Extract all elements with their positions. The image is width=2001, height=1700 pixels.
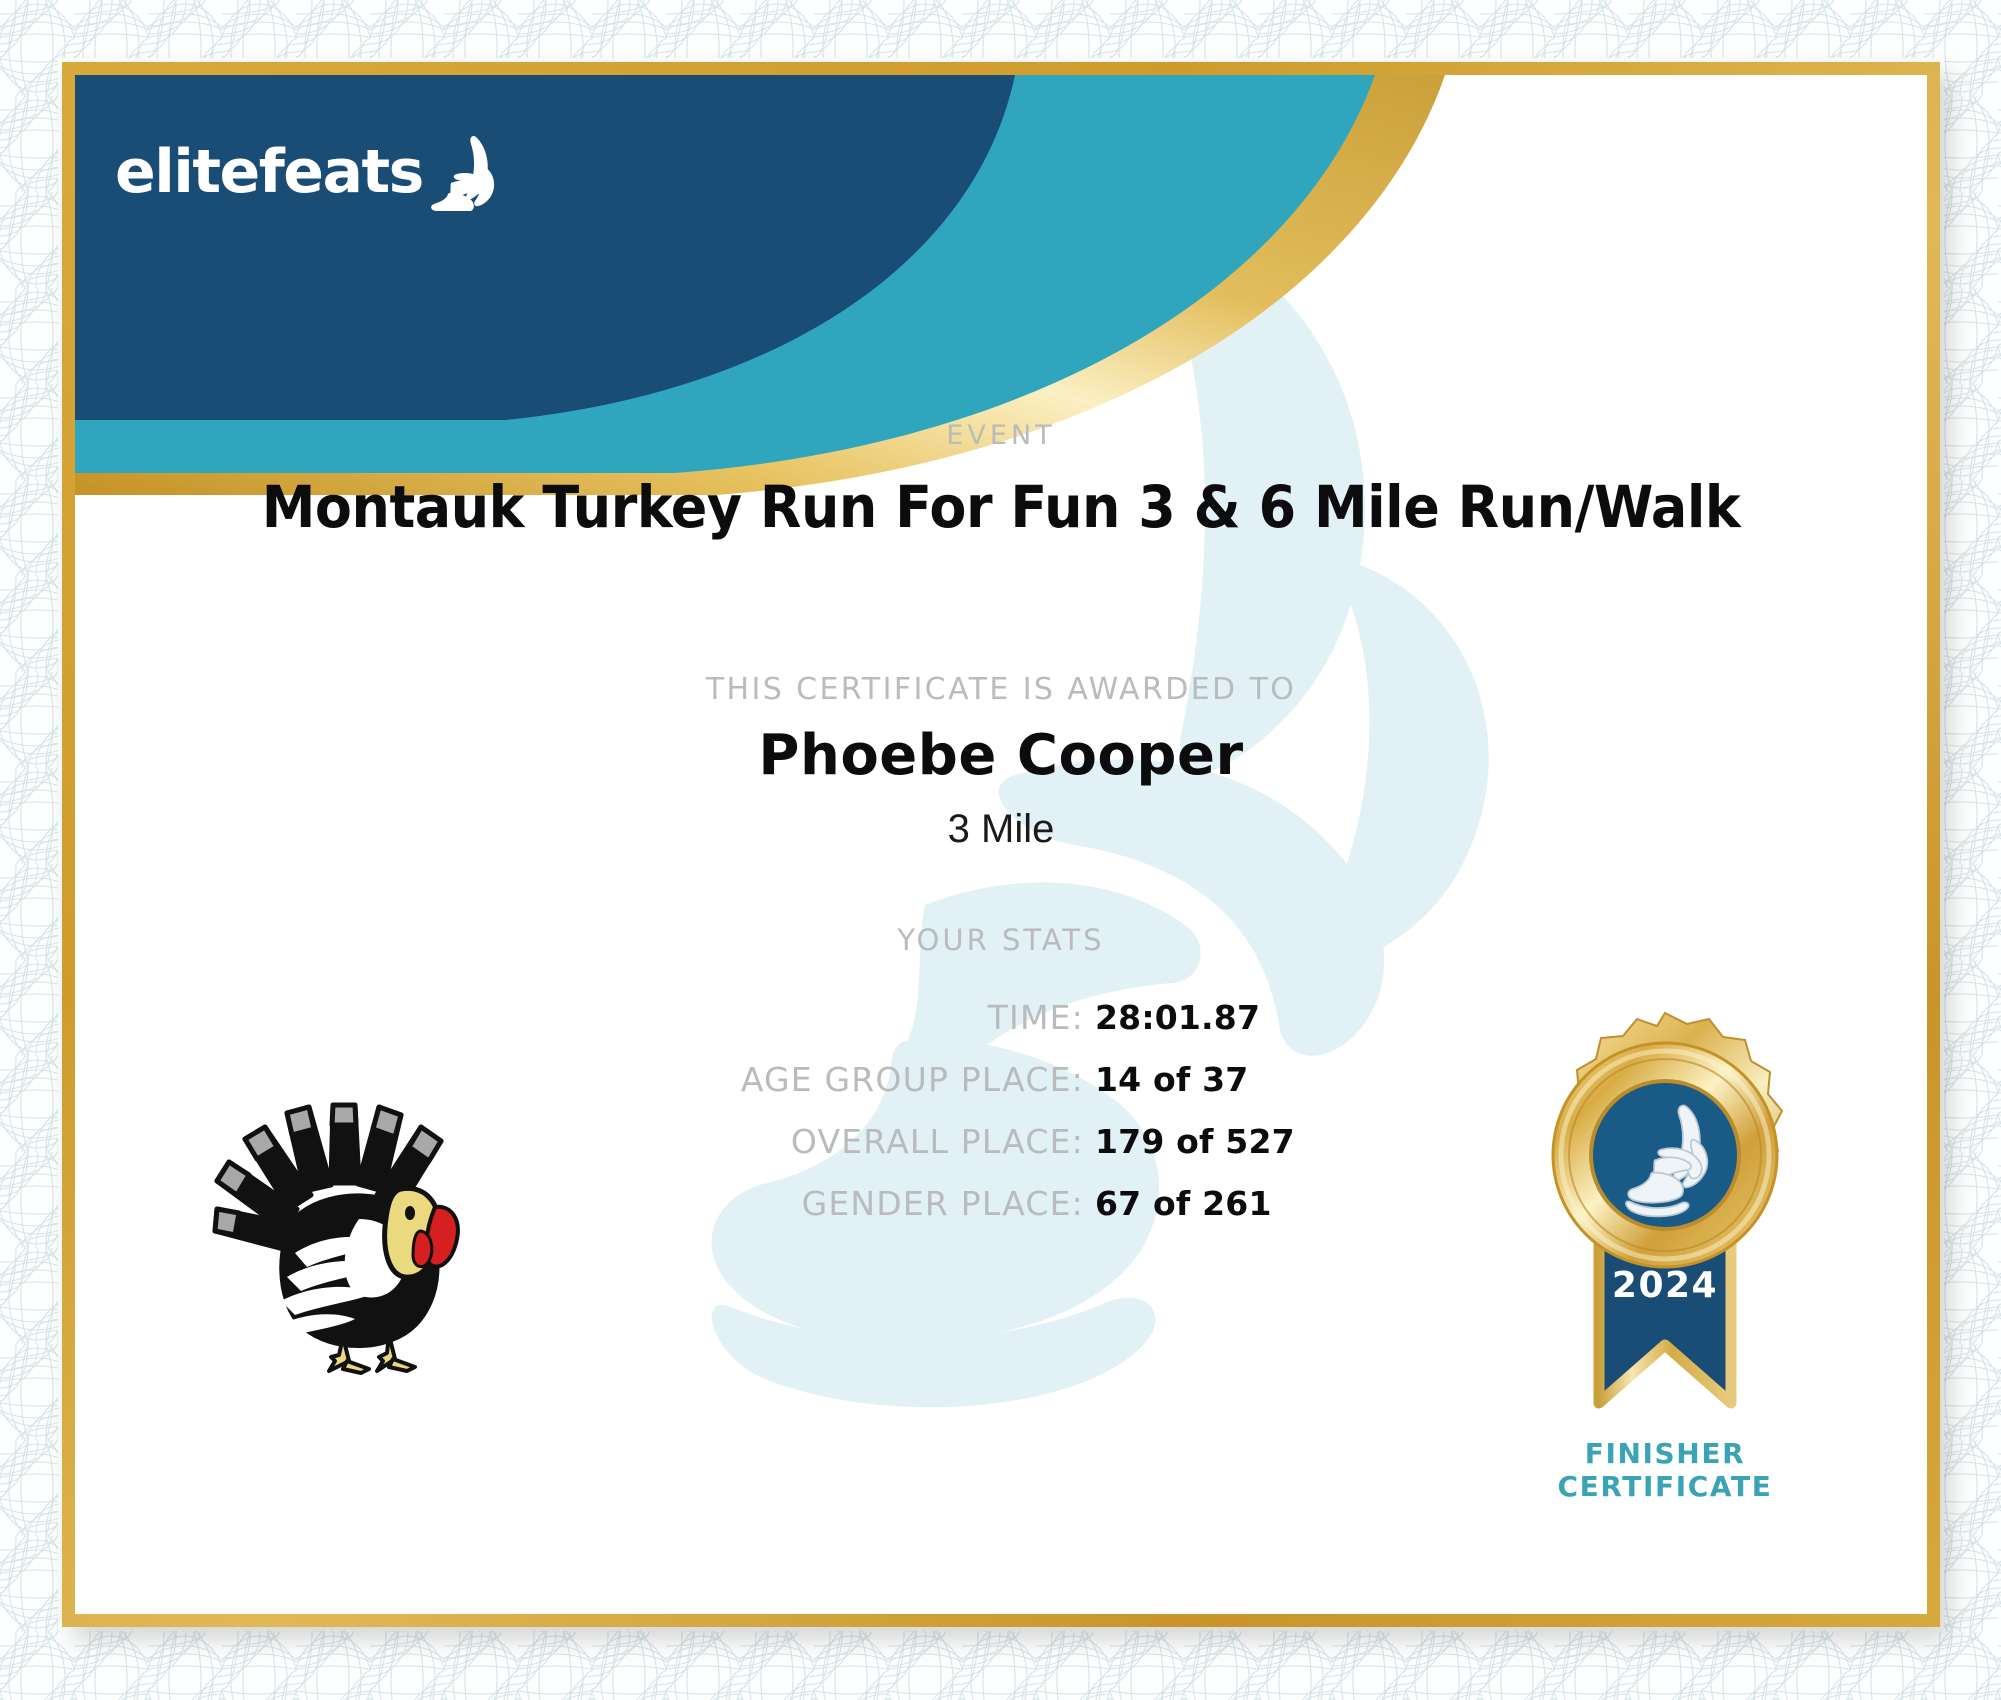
stat-value: 14 of 37 (1095, 1060, 1325, 1099)
elitefeats-logo: elitefeats (115, 133, 499, 211)
badge-year: 2024 (1612, 1265, 1718, 1306)
event-title: Montauk Turkey Run For Fun 3 & 6 Mile Ru… (140, 473, 1862, 541)
your-stats-label: YOUR STATS (75, 923, 1927, 957)
stat-value: 179 of 527 (1095, 1122, 1325, 1161)
stat-value: 28:01.87 (1095, 998, 1325, 1037)
badge-caption-line2: CERTIFICATE (1515, 1470, 1815, 1503)
stat-label: AGE GROUP PLACE: (741, 1060, 1084, 1099)
certificate-page: elitefeats EVENT Montauk Turkey Run For … (0, 0, 2001, 1700)
stat-value: 67 of 261 (1095, 1184, 1325, 1223)
turkey-illustration-icon (183, 1085, 493, 1375)
race-distance: 3 Mile (75, 807, 1927, 852)
logo-wordmark: elitefeats (115, 142, 423, 202)
badge-caption: FINISHER CERTIFICATE (1515, 1437, 1815, 1503)
winged-foot-icon (429, 133, 499, 211)
awarded-to-label: THIS CERTIFICATE IS AWARDED TO (75, 672, 1927, 707)
event-label: EVENT (75, 420, 1927, 451)
recipient-name: Phoebe Cooper (75, 723, 1927, 788)
stat-row: TIME: 28:01.87 (75, 998, 1325, 1037)
finisher-badge: 2024 FINISHER CERTIFICATE (1515, 1005, 1815, 1565)
stat-label: TIME: (988, 998, 1084, 1037)
medal-ribbon-icon: 2024 (1515, 1005, 1815, 1455)
certificate-frame: elitefeats EVENT Montauk Turkey Run For … (62, 62, 1940, 1627)
stat-label: OVERALL PLACE: (791, 1122, 1084, 1161)
badge-caption-line1: FINISHER (1515, 1437, 1815, 1470)
certificate-content: EVENT Montauk Turkey Run For Fun 3 & 6 M… (75, 75, 1927, 1614)
stat-label: GENDER PLACE: (802, 1184, 1084, 1223)
